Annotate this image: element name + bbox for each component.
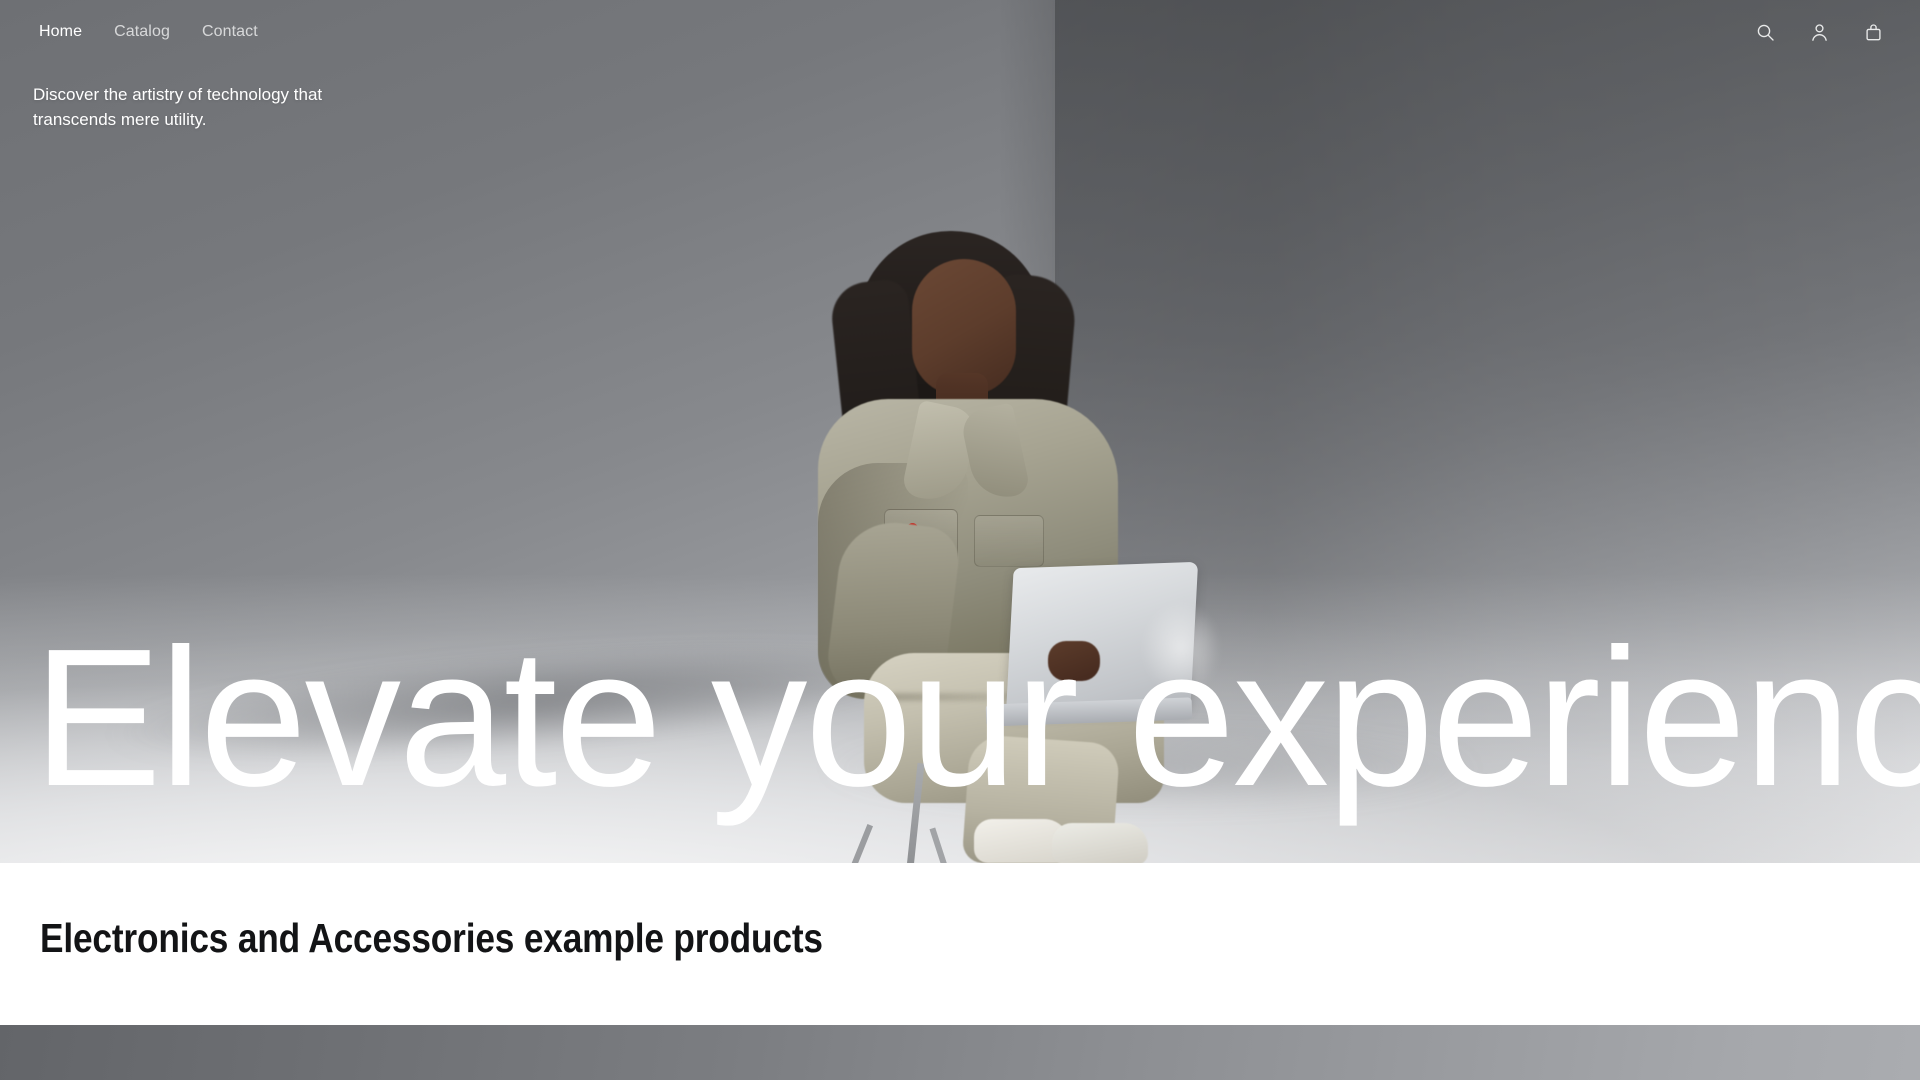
- main-navigation: Home Catalog Contact: [33, 20, 264, 44]
- nav-link-contact[interactable]: Contact: [196, 20, 264, 44]
- account-icon: [1810, 23, 1829, 42]
- account-button[interactable]: [1805, 18, 1833, 46]
- jacket-pocket-right: [974, 515, 1044, 567]
- hero-section: Home Catalog Contact: [0, 0, 1920, 863]
- chair-leg-right: [929, 827, 952, 863]
- search-icon: [1756, 23, 1775, 42]
- search-button[interactable]: [1751, 18, 1779, 46]
- cart-button[interactable]: [1859, 18, 1887, 46]
- nav-link-home[interactable]: Home: [33, 20, 88, 44]
- hero-title: Elevate your experience: [33, 628, 1859, 808]
- next-section-banner: [0, 1025, 1920, 1080]
- products-section: Electronics and Accessories example prod…: [0, 863, 1920, 1025]
- header-actions: [1751, 18, 1887, 46]
- site-header: Home Catalog Contact: [0, 0, 1920, 64]
- chair-leg-left: [845, 824, 873, 863]
- products-heading: Electronics and Accessories example prod…: [40, 915, 823, 962]
- cart-icon: [1864, 23, 1883, 42]
- hero-tagline: Discover the artistry of technology that…: [33, 83, 363, 133]
- nav-link-catalog[interactable]: Catalog: [108, 20, 176, 44]
- shoe-right: [1052, 823, 1148, 863]
